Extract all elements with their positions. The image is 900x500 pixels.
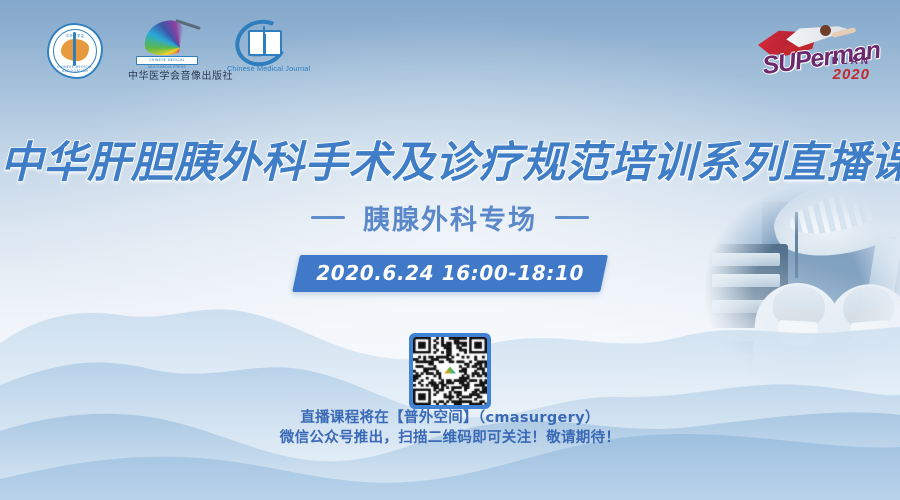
poster-subtitle-row: 胰腺外科专场 bbox=[0, 198, 900, 237]
date-time-badge: 2020.6.24 16:00-18:10 bbox=[292, 255, 608, 292]
superman-plan-2020-badge: SUPerman PLAN 2020 bbox=[752, 16, 872, 82]
date-time-text: 2020.6.24 16:00-18:10 bbox=[316, 261, 584, 285]
superman-year-label: 2020 bbox=[833, 66, 870, 83]
footer-line-2: 微信公众号推出，扫描二维码即可关注！敬请期待！ bbox=[0, 428, 900, 448]
qr-center-logo-icon bbox=[442, 364, 459, 379]
subtitle-dash-left bbox=[311, 216, 345, 219]
cmj-logo-caption: Chinese Medical Journal bbox=[227, 64, 301, 73]
organizer-logos: 中华医学会 CHINESE MEDICAL ASSOCIATION CHINES… bbox=[44, 20, 300, 82]
chinese-medical-association-logo: 中华医学会 CHINESE MEDICAL ASSOCIATION bbox=[44, 20, 106, 82]
superman-head-icon bbox=[820, 25, 831, 36]
webinar-poster: 中华医学会 CHINESE MEDICAL ASSOCIATION CHINES… bbox=[0, 0, 900, 500]
footer-note: 直播课程将在【普外空间】（cmasurgery） 微信公众号推出，扫描二维码即可… bbox=[0, 408, 900, 448]
subtitle-dash-right bbox=[555, 216, 589, 219]
cma-publishing-house-logo: CHINESE MEDICAL MULTIMEDIA PRESS 中华医学会音像… bbox=[128, 20, 206, 82]
wechat-qr-code[interactable] bbox=[409, 333, 491, 409]
poster-title: 中华肝胆胰外科手术及诊疗规范培训系列直播课 bbox=[0, 128, 900, 190]
poster-subtitle: 胰腺外科专场 bbox=[363, 198, 537, 237]
chinese-medical-journal-logo: CMJ Chinese Medical Journal bbox=[228, 20, 300, 82]
cma-logo-bottom-text: CHINESE MEDICAL ASSOCIATION bbox=[44, 65, 106, 73]
cmj-monogram: CMJ bbox=[252, 53, 261, 58]
press-logo-chinese-name: 中华医学会音像出版社 bbox=[128, 67, 206, 82]
footer-line-1: 直播课程将在【普外空间】（cmasurgery） bbox=[0, 408, 900, 428]
